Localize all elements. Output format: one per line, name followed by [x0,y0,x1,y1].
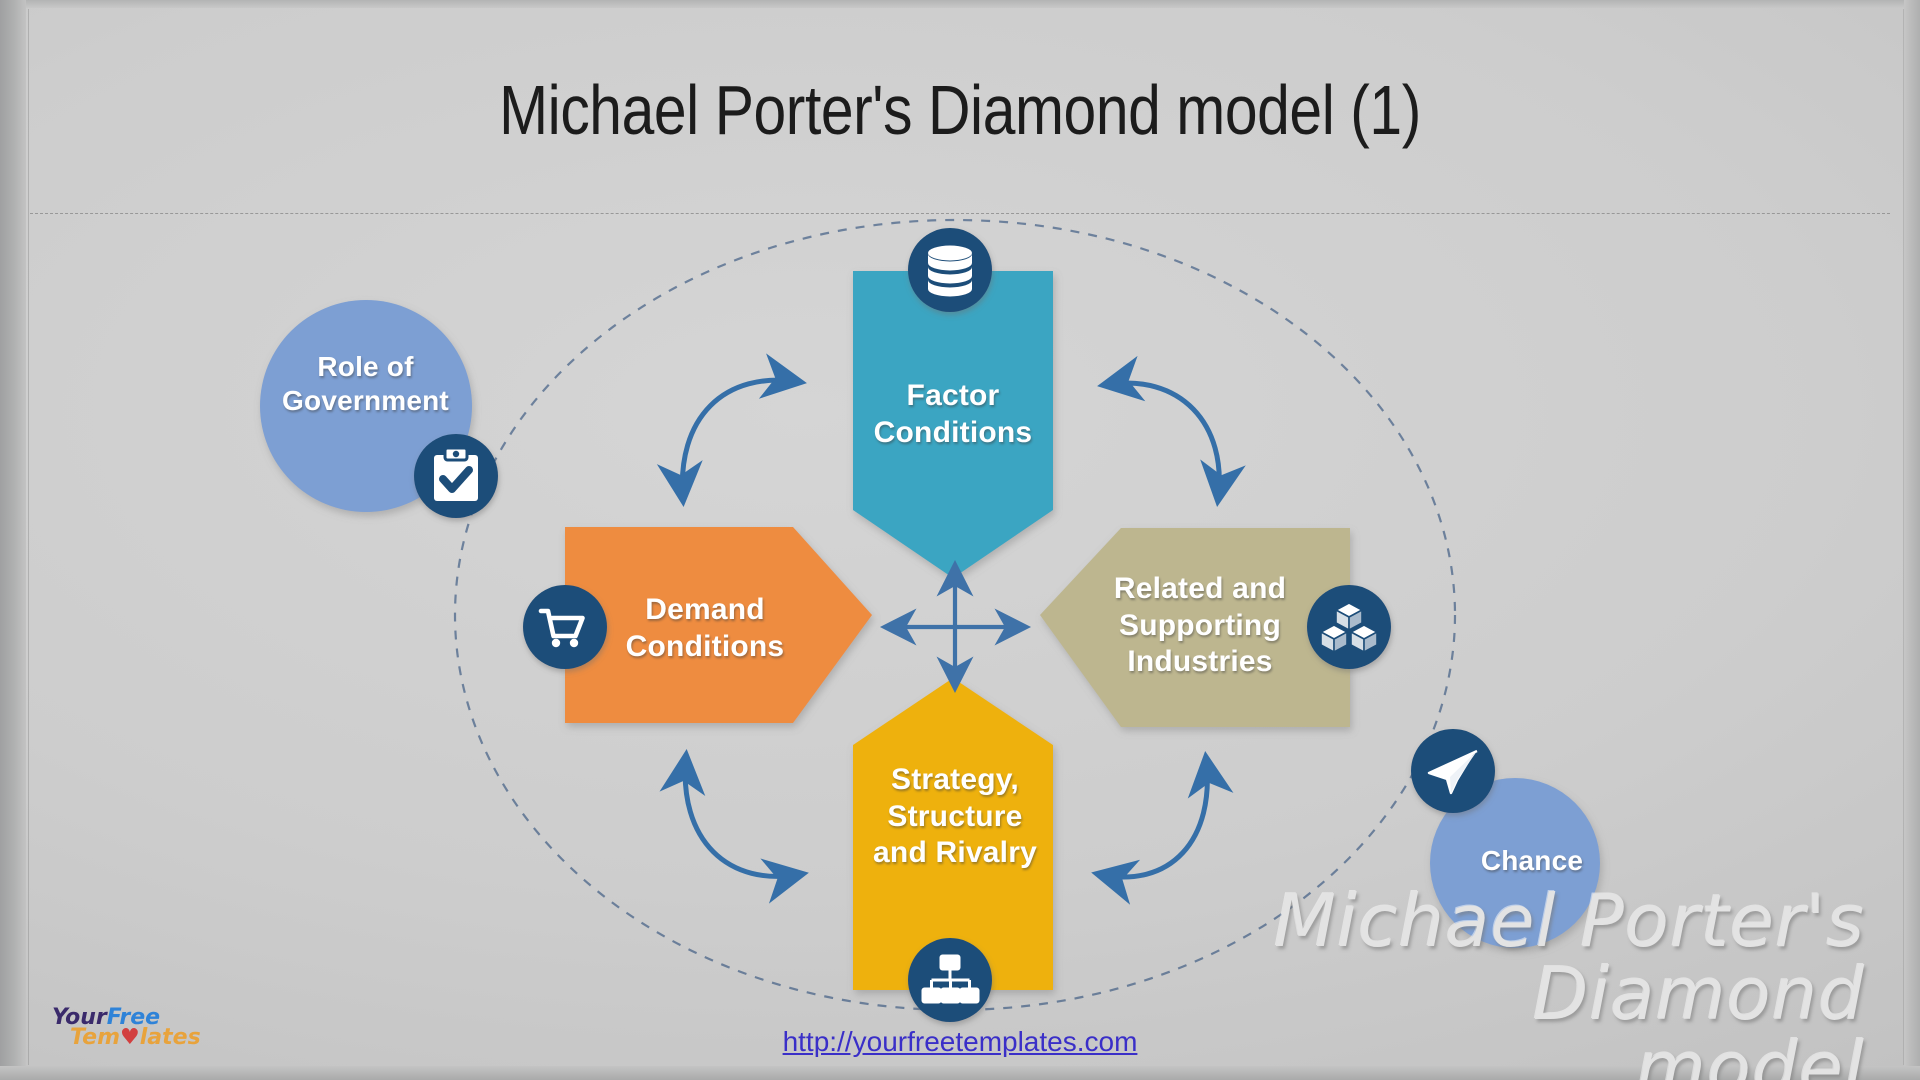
footer-url[interactable]: http://yourfreetemplates.com [0,1026,1920,1058]
logo-word-plates: lates [140,1025,201,1050]
clipboard-check-icon[interactable] [414,434,498,518]
paper-plane-icon[interactable] [1411,729,1495,813]
connector-arrow-bottom-right [1098,758,1207,877]
connector-arrow-top-right [1104,383,1219,500]
node-related-supporting-industries[interactable] [1040,528,1350,727]
node-demand-conditions[interactable] [565,527,872,723]
connector-arrow-bottom-left [685,756,802,876]
slide-canvas: Michael Porter's Diamond model (1) [0,0,1920,1080]
logo-word-tem: Tem [70,1025,120,1050]
brand-logo: YourFree Tem♥lates [52,1008,201,1048]
footer-url-text[interactable]: http://yourfreetemplates.com [783,1026,1138,1057]
shopping-cart-icon[interactable] [523,585,607,669]
heart-icon: ♥ [120,1025,140,1050]
connector-arrow-top-left [682,380,800,500]
database-icon[interactable] [908,228,992,312]
porter-diamond-diagram [0,0,1920,1080]
cubes-icon[interactable] [1307,585,1391,669]
sitemap-icon[interactable] [908,938,992,1022]
four-way-arrow-icon [885,565,1026,688]
node-factor-conditions[interactable] [853,271,1053,578]
